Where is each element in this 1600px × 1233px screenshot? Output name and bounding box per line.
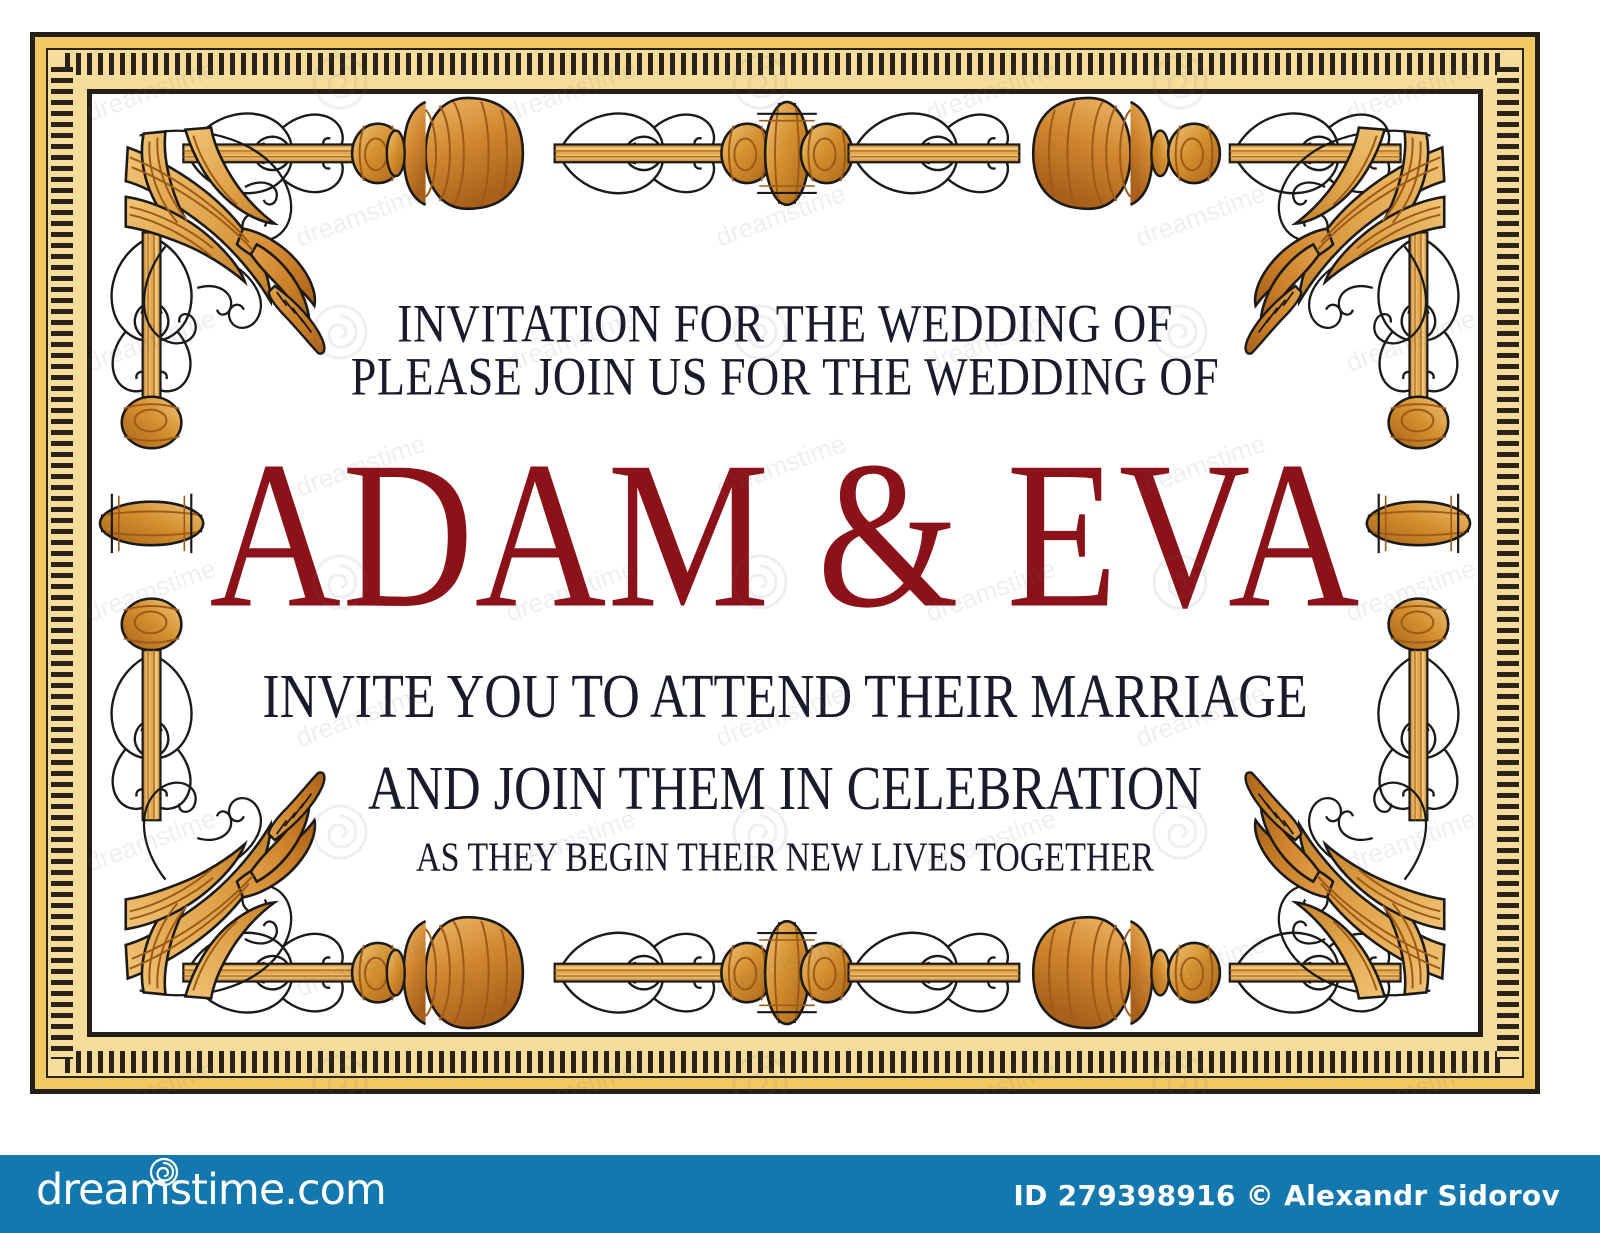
invitation-body-2: AND JOIN THEM IN CELEBRATION [92, 755, 1478, 825]
dentil-strip-left [51, 67, 73, 1059]
invitation-inner-field: INVITATION FOR THE WEDDING OF PLEASE JOI… [87, 89, 1483, 1037]
invitation-body-3: AS THEY BEGIN THEIR NEW LIVES TOGETHER [92, 835, 1478, 881]
dentil-strip-bottom [65, 1051, 1505, 1073]
stock-footer-bar: dreamstime.com ID 279398916 © Alexandr S… [0, 1155, 1600, 1233]
image-id-credit: ID 279398916 © Alexandr Sidorov [1013, 1179, 1560, 1212]
couple-names-title: ADAM & EVA [113, 429, 1457, 640]
spiral-copyright-icon [149, 1157, 179, 1192]
invitation-headline-2: PLEASE JOIN US FOR THE WEDDING OF [92, 345, 1478, 408]
dentil-strip-top [65, 53, 1505, 75]
dreamstime-logo[interactable]: dreamstime.com [36, 1169, 386, 1212]
dreamstime-logo-text: dreamstime.com [36, 1169, 386, 1212]
invitation-card: INVITATION FOR THE WEDDING OF PLEASE JOI… [30, 32, 1540, 1094]
invitation-body-1: INVITE YOU TO ATTEND THEIR MARRIAGE [92, 663, 1478, 733]
stock-photo-page: INVITATION FOR THE WEDDING OF PLEASE JOI… [0, 0, 1600, 1233]
invitation-text-block: INVITATION FOR THE WEDDING OF PLEASE JOI… [92, 292, 1478, 873]
dentil-strip-right [1497, 67, 1519, 1059]
